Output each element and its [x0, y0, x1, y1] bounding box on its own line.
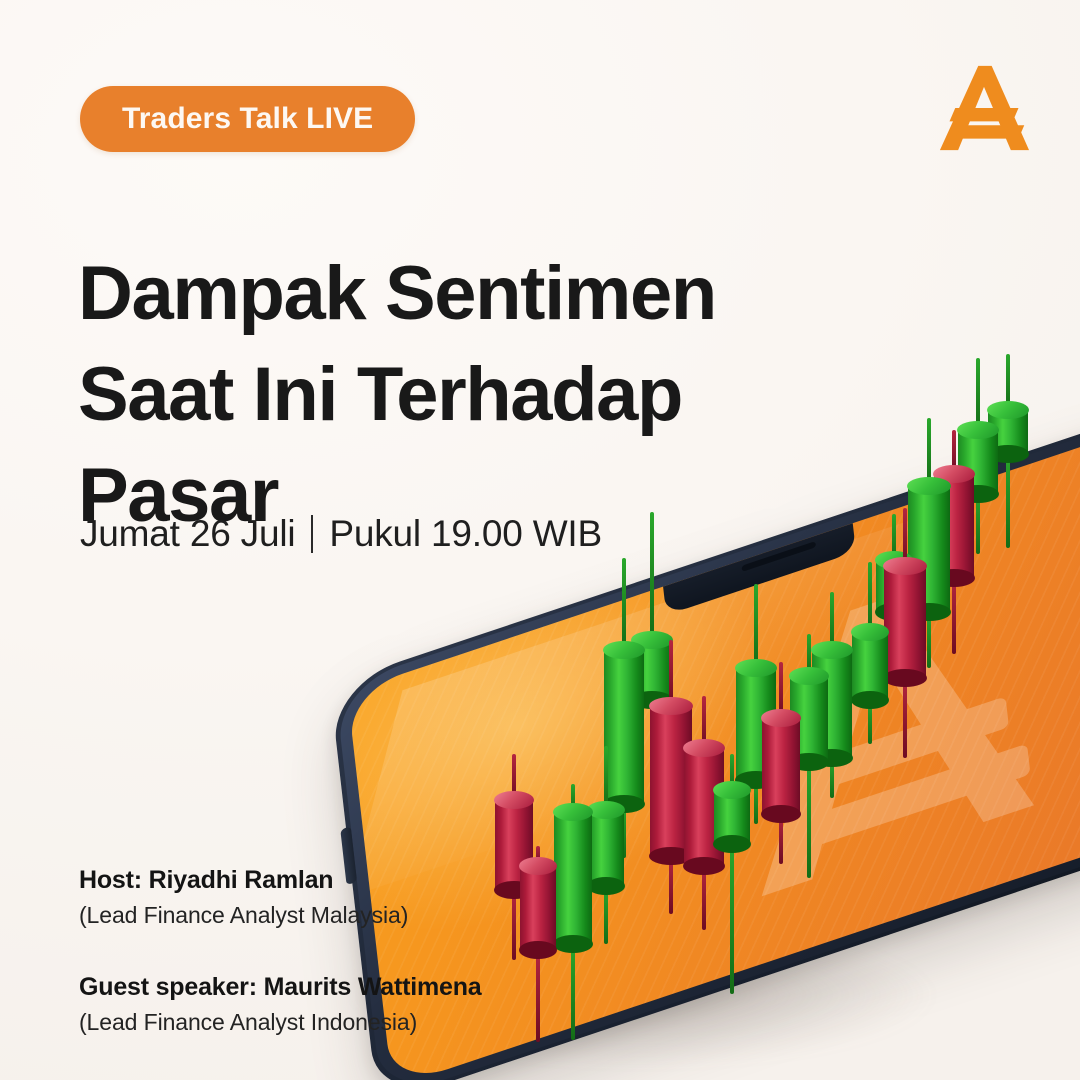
headline-line-1: Dampak Sentimen: [78, 243, 838, 344]
credit-guest-speaker: Guest speaker: Maurits Wattimena (Lead F…: [79, 973, 482, 1036]
page-title: Dampak Sentimen Saat Ini Terhadap Pasar: [78, 243, 838, 546]
live-badge: Traders Talk LIVE: [80, 86, 415, 152]
brand-a-logo-icon: [936, 62, 1032, 154]
schedule-line: Jumat 26 Juli Pukul 19.00 WIB: [80, 513, 602, 555]
live-badge-label: Traders Talk LIVE: [122, 102, 373, 136]
schedule-date: Jumat 26 Juli: [80, 513, 295, 555]
schedule-separator: [311, 515, 313, 553]
credit-role: (Lead Finance Analyst Indonesia): [79, 1009, 482, 1036]
headline-line-2: Saat Ini Terhadap: [78, 344, 838, 445]
promo-poster: Traders Talk LIVE Dampak Sentimen Saat I…: [0, 0, 1080, 1080]
credit-role: (Lead Finance Analyst Malaysia): [79, 902, 482, 929]
credits-block: Host: Riyadhi Ramlan (Lead Finance Analy…: [79, 866, 482, 1036]
credit-name: Host: Riyadhi Ramlan: [79, 866, 482, 895]
credit-host: Host: Riyadhi Ramlan (Lead Finance Analy…: [79, 866, 482, 929]
credit-name: Guest speaker: Maurits Wattimena: [79, 973, 482, 1002]
schedule-time: Pukul 19.00 WIB: [329, 513, 602, 555]
